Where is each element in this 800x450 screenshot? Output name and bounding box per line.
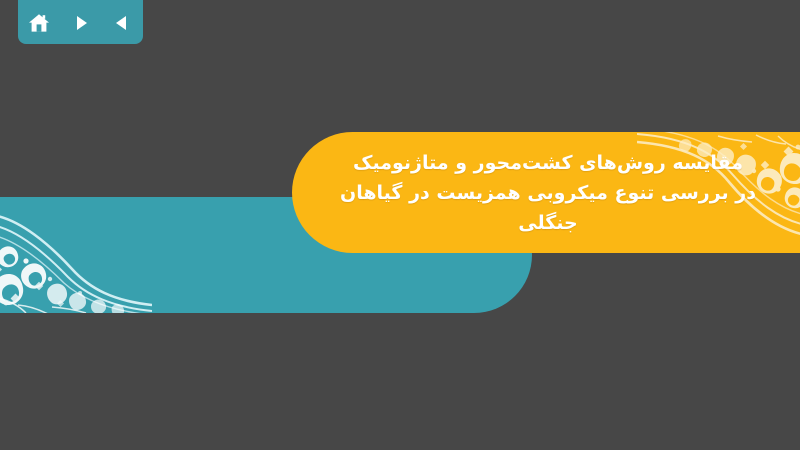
triangle-left-icon bbox=[113, 14, 131, 32]
next-slide-button[interactable] bbox=[66, 8, 96, 38]
presentation-slide: مقایسه روش‌های کشت‌محور و متاژنومیک در ب… bbox=[0, 0, 800, 450]
navigation-toolbar bbox=[18, 0, 143, 44]
previous-slide-button[interactable] bbox=[107, 8, 137, 38]
triangle-right-icon bbox=[72, 14, 90, 32]
orange-title-band: مقایسه روش‌های کشت‌محور و متاژنومیک در ب… bbox=[292, 132, 800, 253]
title-line-2: در بررسی تنوع میکروبی همزیست در گیاهان bbox=[340, 178, 756, 208]
title-line-1: مقایسه روش‌های کشت‌محور و متاژنومیک bbox=[353, 148, 743, 178]
home-button[interactable] bbox=[24, 8, 54, 38]
slide-title: مقایسه روش‌های کشت‌محور و متاژنومیک در ب… bbox=[292, 132, 800, 253]
home-icon bbox=[28, 13, 50, 33]
arabesque-ornament-teal bbox=[0, 197, 152, 313]
title-line-3: جنگلی bbox=[518, 208, 577, 238]
